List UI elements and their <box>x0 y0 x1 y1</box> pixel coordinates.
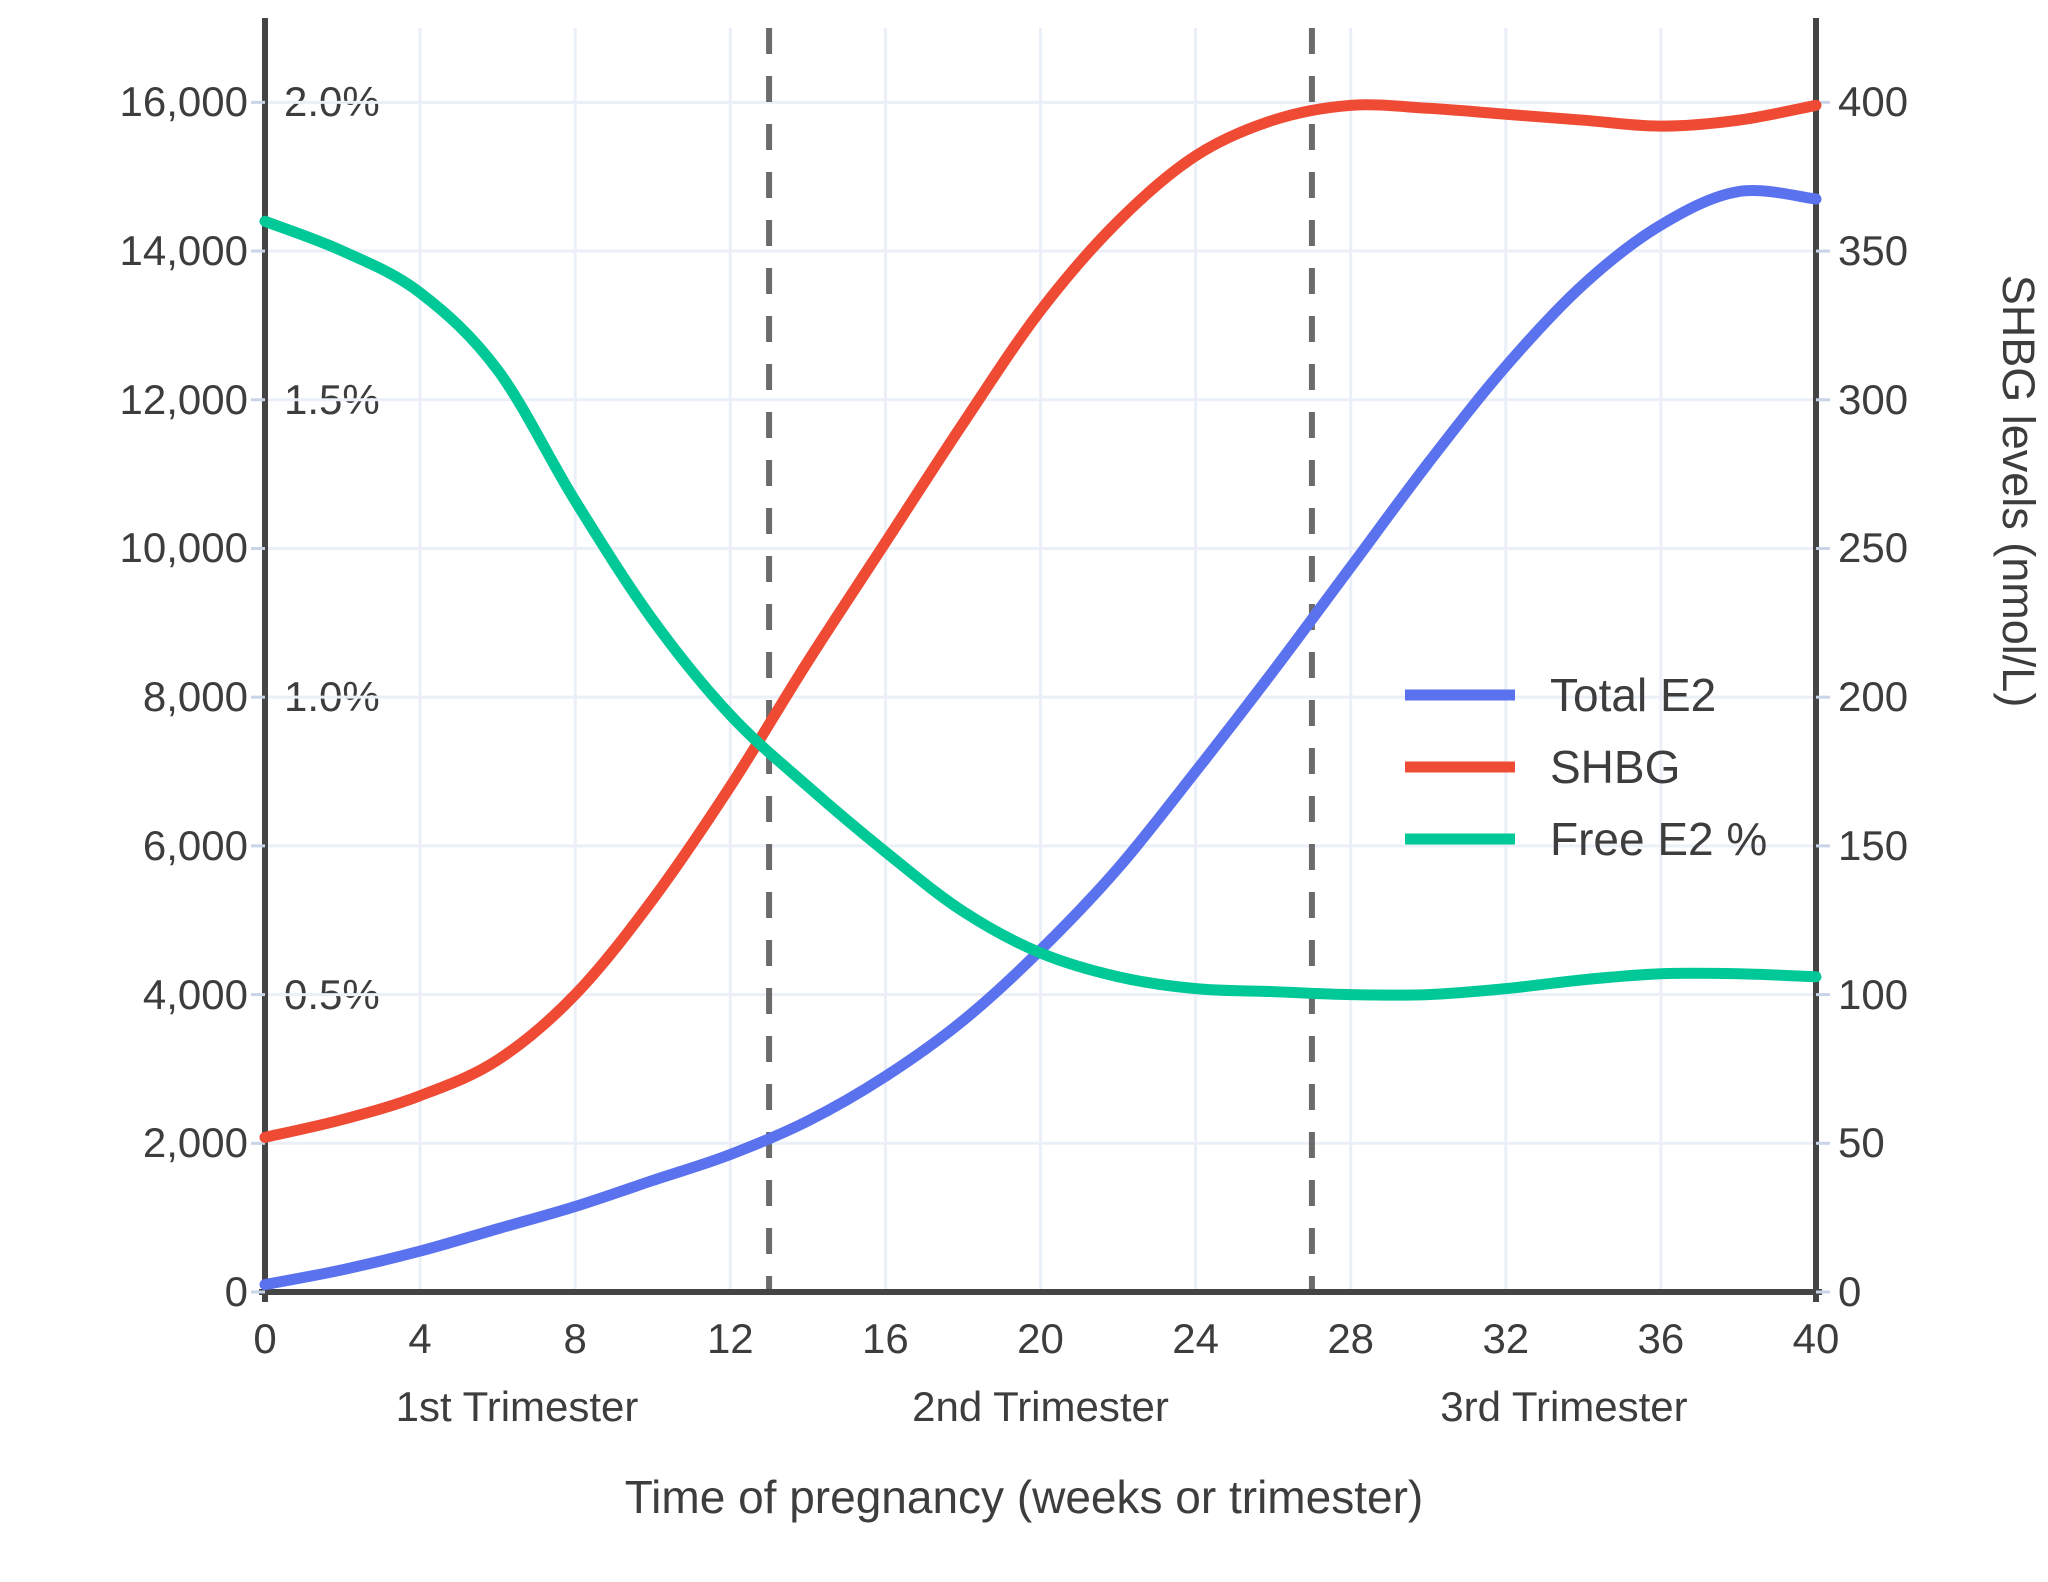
legend-label-3: Free E2 % <box>1550 813 1767 865</box>
legend-label-2: SHBG <box>1550 741 1680 793</box>
plot-area: Total E2SHBGFree E2 % <box>0 0 2048 1582</box>
chart-figure: Total E2 levels (pg/mL) and free E2 frac… <box>0 0 2048 1582</box>
legend-label-1: Total E2 <box>1550 669 1716 721</box>
